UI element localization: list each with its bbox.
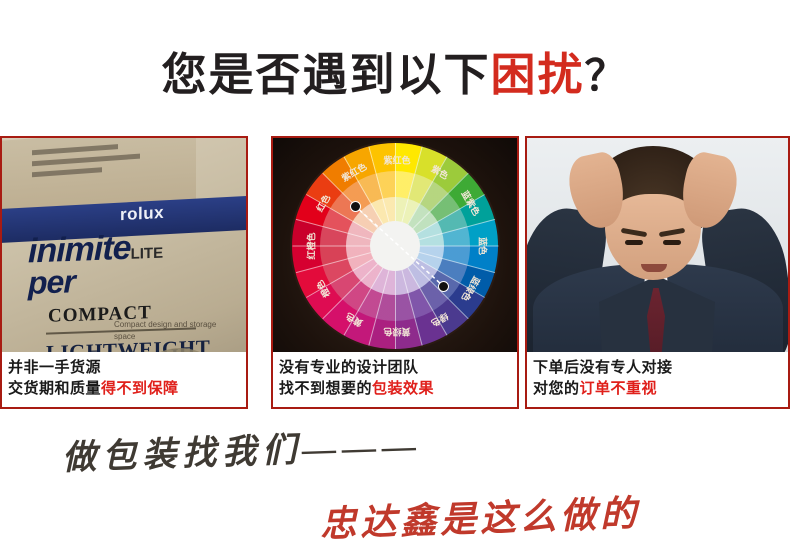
box-small-text: Compact design and storage space — [114, 319, 234, 343]
color-wheel — [292, 143, 498, 349]
caption-line-1: 并非一手货源 — [8, 357, 240, 379]
wheel-label: 紫红色 — [383, 154, 410, 167]
headline-prefix: 您是否遇到以下 — [161, 50, 490, 100]
caption-line-2: 交货期和质量得不到保障 — [8, 378, 240, 400]
panel-design: 紫红色紫色蓝紫色蓝色蓝绿色绿色黄绿色黄色橙色红橙色红色紫红色 没有专业的设计团队… — [271, 136, 519, 409]
wheel-dot-b — [438, 281, 449, 292]
slogan-primary: 做包装找我们——— — [61, 418, 422, 480]
headline-question-mark: ？ — [585, 54, 629, 100]
caption-line-1: 没有专业的设计团队 — [279, 357, 511, 379]
wheel-dot-a — [350, 201, 361, 212]
complementary-line-icon — [292, 143, 498, 349]
caption-line-1: 下单后没有专人对接 — [533, 357, 782, 379]
slogan-secondary: 忠达鑫是这么做的 — [319, 484, 641, 547]
box-brand-text: rolux — [120, 203, 164, 225]
panel-caption: 没有专业的设计团队 找不到想要的包装效果 — [273, 352, 517, 408]
panel-sourcing: rolux inimiteLITE per COMPACT LIGHTWEIGH… — [0, 136, 248, 409]
box-headline-2: per — [28, 263, 75, 302]
panel-caption: 下单后没有专人对接 对您的订单不重视 — [527, 352, 788, 408]
page-title: 您是否遇到以下困扰？ — [0, 38, 790, 103]
headline-accent: 困扰 — [490, 50, 584, 100]
wheel-label: 蓝色 — [477, 237, 490, 255]
panel-caption: 并非一手货源 交货期和质量得不到保障 — [2, 352, 246, 408]
caption-line-2: 找不到想要的包装效果 — [279, 378, 511, 400]
panel-service: 下单后没有专人对接 对您的订单不重视 — [525, 136, 790, 409]
problem-panels: rolux inimiteLITE per COMPACT LIGHTWEIGH… — [0, 136, 790, 409]
wheel-label: 红橙色 — [305, 232, 318, 259]
wheel-label: 黄绿色 — [383, 326, 410, 339]
caption-line-2: 对您的订单不重视 — [533, 378, 782, 400]
